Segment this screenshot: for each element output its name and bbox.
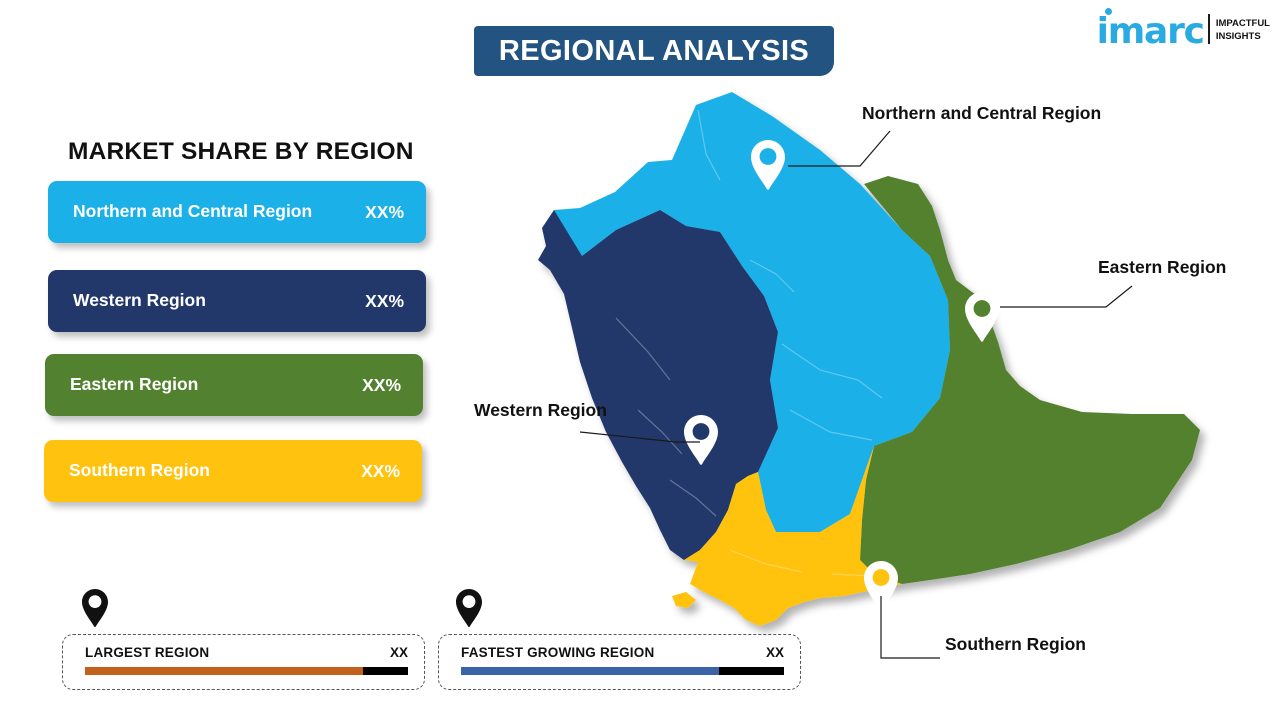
map-regions-group [538,92,1200,626]
share-bar-value: XX% [362,375,401,396]
map-pin-southern[interactable] [864,561,898,611]
logo-tagline-line1: IMPACTFUL [1216,18,1270,31]
stat-progress-fill [85,667,363,675]
map-island-southern [672,592,696,608]
map-label-western: Western Region [474,400,607,421]
stat-progress-track [461,667,784,675]
page-title: REGIONAL ANALYSIS [499,35,809,68]
logo-wordmark-text: imarc [1097,11,1204,52]
regional-map [520,80,1220,650]
map-pin-icon-largest [80,588,110,628]
share-bar-label: Southern Region [69,460,210,482]
logo-tagline: IMPACTFUL INSIGHTS [1216,18,1270,44]
logo-wordmark: imarc [1097,17,1204,48]
logo-dot-icon [1105,8,1112,15]
share-bar-western[interactable]: Western Region XX% [48,270,426,332]
share-bar-label: Western Region [73,290,206,312]
map-label-eastern: Eastern Region [1098,257,1226,278]
logo-tagline-line2: INSIGHTS [1216,31,1270,44]
map-label-southern: Southern Region [945,634,1086,655]
slide-root: REGIONAL ANALYSIS imarc IMPACTFUL INSIGH… [0,0,1280,720]
logo-divider [1208,14,1210,44]
share-bar-southern[interactable]: Southern Region XX% [44,440,422,502]
market-share-heading: MARKET SHARE BY REGION [68,138,414,166]
map-pin-icon-fastest [454,588,484,628]
share-bar-northern-central[interactable]: Northern and Central Region XX% [48,181,426,243]
stat-value: XX [390,645,408,660]
share-bar-eastern[interactable]: Eastern Region XX% [45,354,423,416]
map-svg [520,80,1220,650]
share-bar-value: XX% [365,291,404,312]
imarc-logo: imarc IMPACTFUL INSIGHTS [1097,14,1270,48]
share-bar-value: XX% [361,461,400,482]
stat-progress-track [85,667,408,675]
stat-box-largest-region[interactable]: LARGEST REGION XX [62,634,425,690]
stat-row: LARGEST REGION XX [85,645,408,660]
page-title-banner: REGIONAL ANALYSIS [474,26,834,76]
share-bar-label: Eastern Region [70,374,198,396]
stat-progress-fill [461,667,719,675]
map-label-northern-central: Northern and Central Region [862,103,1101,124]
share-bar-value: XX% [365,202,404,223]
share-bar-label: Northern and Central Region [73,201,312,223]
stat-label: LARGEST REGION [85,645,209,660]
